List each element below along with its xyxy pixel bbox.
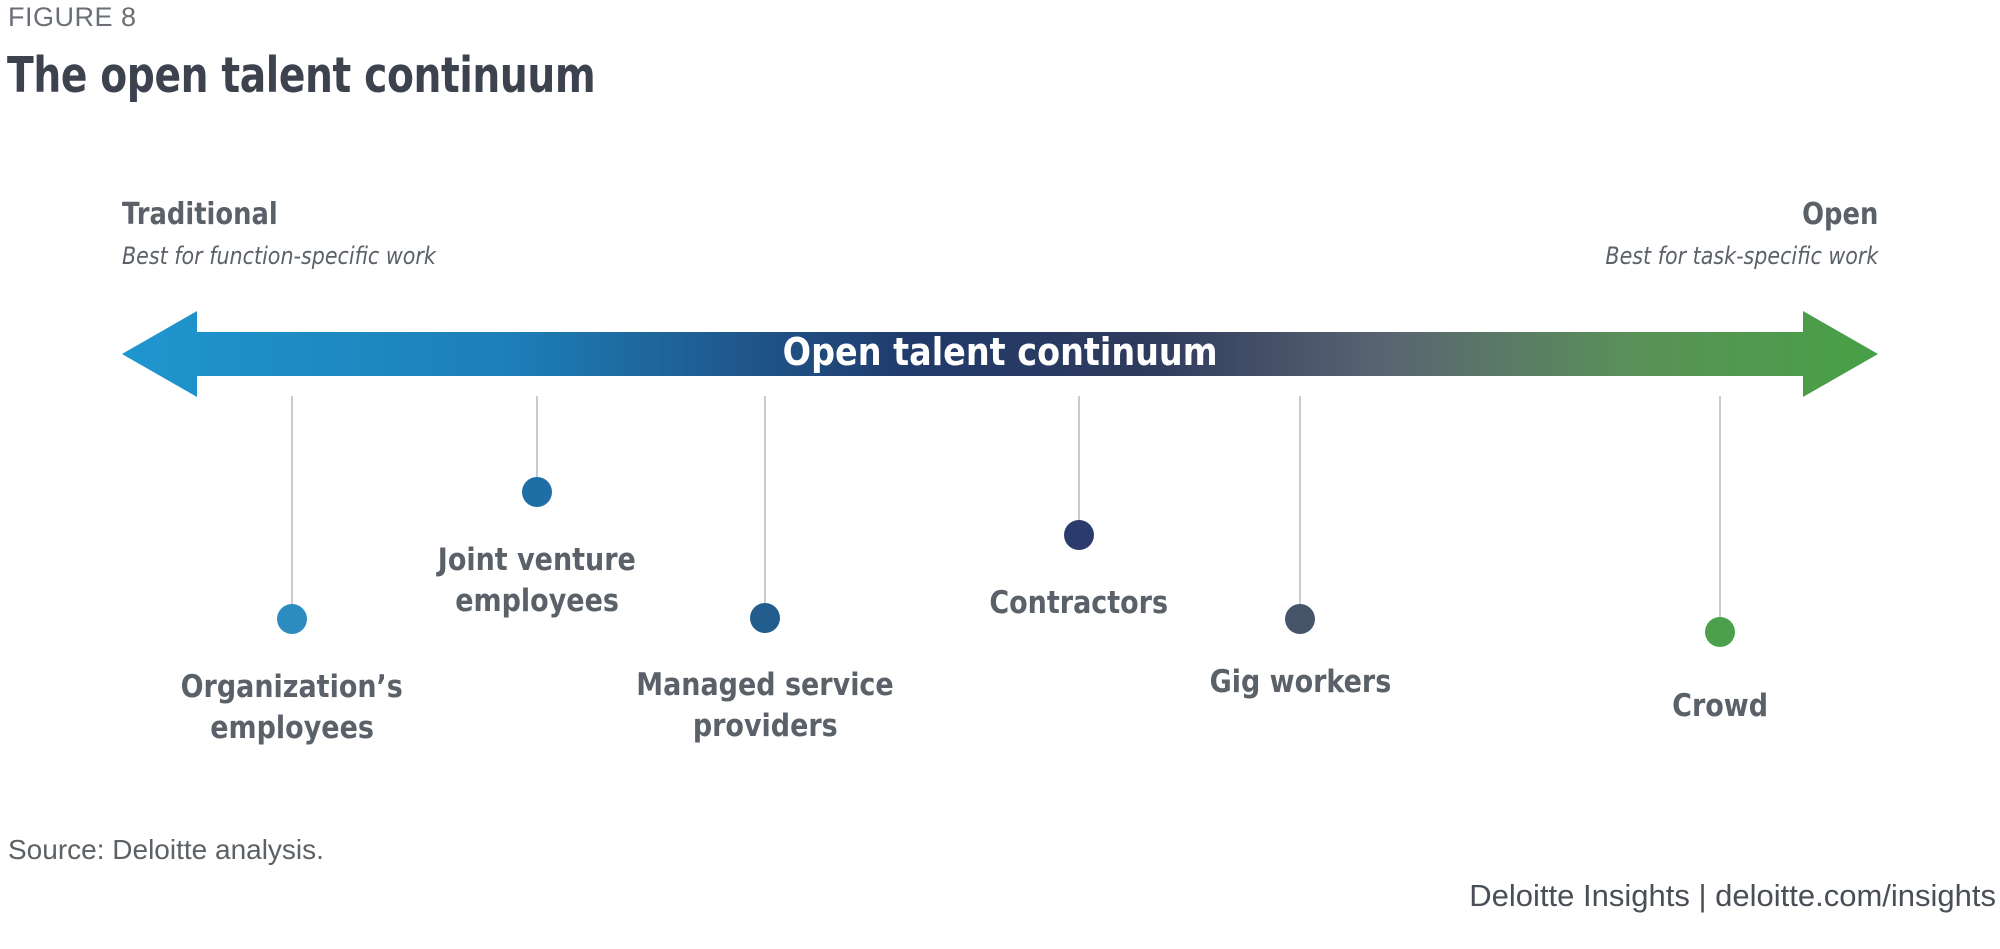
stage-connector-line	[764, 396, 766, 618]
stage-label-line: Managed service	[636, 665, 893, 706]
figure-number-label: FIGURE 8	[8, 2, 137, 33]
endpoint-right-subtitle: Best for task-specific work	[1605, 244, 1878, 268]
stage-dot[interactable]	[1285, 604, 1315, 634]
continuum-arrow-shape	[122, 311, 1878, 397]
continuum-endpoint-right: Open Best for task-specific work	[1561, 200, 1878, 268]
stage-label-line: Organization’s	[181, 667, 403, 708]
stage-label: Gig workers	[1130, 662, 1470, 703]
stage-dot[interactable]	[277, 604, 307, 634]
brand-footer: Deloitte Insights | deloitte.com/insight…	[1469, 878, 1996, 914]
stage-label-line: employees	[455, 581, 619, 622]
stage-dot[interactable]	[522, 477, 552, 507]
continuum-endpoint-left: Traditional Best for function-specific w…	[122, 200, 487, 268]
stage-label: Joint ventureemployees	[367, 540, 707, 622]
stage-connector-line	[1299, 396, 1301, 619]
endpoint-left-title: Traditional	[122, 200, 436, 230]
stage-connector-line	[291, 396, 293, 619]
stage-label-line: Gig workers	[1209, 662, 1391, 703]
stage-connector-line	[1719, 396, 1721, 632]
stage-label: Organization’semployees	[112, 667, 472, 749]
stage-label: Contractors	[909, 583, 1249, 624]
stage-label: Crowd	[1570, 686, 1870, 727]
source-note: Source: Deloitte analysis.	[8, 834, 324, 866]
stage-connector-line	[1078, 396, 1080, 535]
endpoint-left-subtitle: Best for function-specific work	[122, 244, 436, 268]
page-title: The open talent continuum	[7, 47, 595, 104]
stage-dot[interactable]	[1064, 520, 1094, 550]
stage-dot[interactable]	[1705, 617, 1735, 647]
stage-dot[interactable]	[750, 603, 780, 633]
stage-label-line: providers	[693, 706, 838, 747]
continuum-arrow-graphic	[110, 300, 1890, 408]
stage-label-line: Contractors	[990, 583, 1169, 624]
stage-label-line: employees	[210, 708, 374, 749]
stage-label-line: Joint venture	[438, 540, 636, 581]
endpoint-right-title: Open	[1605, 200, 1878, 230]
stage-label: Managed serviceproviders	[565, 665, 965, 747]
stage-label-line: Crowd	[1672, 686, 1768, 727]
